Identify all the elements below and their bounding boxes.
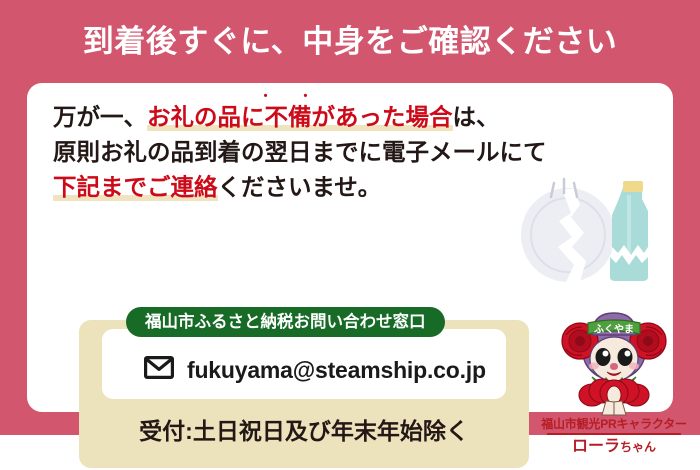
envelope-icon	[144, 356, 174, 384]
body-paragraph: 万が一、お礼の品に不備があった場合は、 原則お礼の品到着の翌日までに電子メールに…	[53, 100, 523, 205]
header-band: 到着後すぐに、中身をご確認ください	[0, 0, 700, 82]
body-line1-emphasis: 不備	[265, 104, 312, 131]
mascot-caption: 福山市観光PRキャラクター ローラちゃん	[539, 417, 689, 457]
mascot-block: ふくやま	[539, 305, 689, 470]
mascot-name-label: ローラちゃん	[539, 437, 689, 457]
email-address[interactable]: fukuyama@steamship.co.jp	[187, 357, 486, 384]
content-card: 万が一、お礼の品に不備があった場合は、 原則お礼の品到着の翌日までに電子メールに…	[27, 83, 673, 412]
mascot-name-main: ローラ	[572, 438, 620, 455]
contact-badge-label: 福山市ふるさと納税お問い合わせ窓口	[145, 314, 426, 331]
body-line1-highlight-b: があった場合	[312, 104, 453, 131]
body-line3-suffix: くださいませ。	[218, 174, 382, 200]
email-panel[interactable]: fukuyama@steamship.co.jp	[102, 329, 506, 399]
body-line-2: 原則お礼の品到着の翌日までに電子メールにて	[53, 135, 523, 170]
svg-text:ふくやま: ふくやま	[594, 324, 634, 336]
mascot-caption-divider	[547, 433, 681, 435]
mascot-illustration: ふくやま	[552, 305, 676, 422]
contact-badge: 福山市ふるさと納税お問い合わせ窓口	[126, 307, 445, 337]
body-line1-highlight-a: お礼の品に	[147, 104, 265, 131]
body-line-3: 下記までご連絡くださいませ。	[53, 170, 523, 205]
body-line-1: 万が一、お礼の品に不備があった場合は、	[53, 100, 523, 135]
reception-note: 受付:土日祝日及び年末年始除く	[79, 412, 529, 446]
notice-poster: 到着後すぐに、中身をご確認ください 万が一、お礼の品に不備があった場合は、 原則…	[0, 0, 700, 435]
body-line1-suffix: は、	[453, 104, 500, 130]
mascot-name-suffix: ちゃん	[620, 440, 656, 454]
broken-items-illustration	[514, 175, 664, 287]
page-title: 到着後すぐに、中身をご確認ください	[83, 26, 618, 57]
contact-box: 福山市ふるさと納税お問い合わせ窓口 fukuyama@steamship.co.…	[79, 320, 529, 468]
body-line3-highlight: 下記までご連絡	[53, 174, 218, 201]
mascot-role-label: 福山市観光PRキャラクター	[539, 417, 689, 432]
body-line1-prefix: 万が一、	[53, 104, 147, 130]
